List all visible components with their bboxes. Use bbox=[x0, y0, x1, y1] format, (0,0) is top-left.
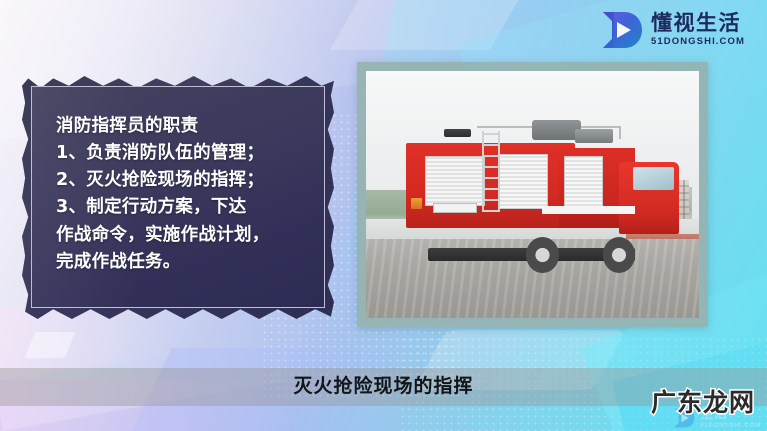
site-watermark: 广东龙网 bbox=[651, 383, 755, 419]
panel-line-2: 2、灭火抢险现场的指挥； bbox=[56, 167, 306, 194]
dongshi-d-play-icon bbox=[600, 9, 644, 51]
ghost-watermark-en: 51DONGSHI.COM bbox=[700, 423, 761, 429]
truck-roller-shutter bbox=[499, 154, 548, 209]
slide-canvas: 懂视生活 51DONGSHI.COM 消防指挥员的职责 1、负责消防队伍的管理；… bbox=[0, 0, 767, 431]
truck-wheel bbox=[603, 237, 636, 273]
fire-truck bbox=[406, 120, 679, 258]
panel-line-1: 1、负责消防队伍的管理； bbox=[56, 140, 306, 167]
truck-roof-equipment bbox=[532, 120, 581, 139]
info-panel: 消防指挥员的职责 1、负责消防队伍的管理； 2、灭火抢险现场的指挥； 3、制定行… bbox=[22, 76, 334, 319]
panel-line-5: 完成作战任务。 bbox=[56, 249, 306, 276]
truck-side-stripe bbox=[542, 206, 635, 214]
panel-line-3: 3、制定行动方案，下达 bbox=[56, 194, 306, 221]
brand-logo-text: 懂视生活 51DONGSHI.COM bbox=[651, 13, 745, 47]
truck-light-bar bbox=[444, 129, 471, 137]
truck-wheel bbox=[526, 237, 559, 273]
info-panel-inner: 消防指挥员的职责 1、负责消防队伍的管理； 2、灭火抢险现场的指挥； 3、制定行… bbox=[31, 86, 325, 308]
truck-rear-plate bbox=[433, 203, 477, 213]
truck-ladder bbox=[482, 131, 500, 211]
photo-frame bbox=[357, 62, 708, 327]
truck-tail-light bbox=[411, 198, 422, 209]
fire-truck-photo bbox=[366, 71, 699, 318]
brand-logo[interactable]: 懂视生活 51DONGSHI.COM bbox=[600, 6, 762, 54]
panel-line-4: 作战命令，实施作战计划， bbox=[56, 222, 306, 249]
truck-roller-shutter bbox=[564, 156, 602, 209]
truck-roof-equipment bbox=[575, 129, 613, 143]
info-panel-text: 消防指挥员的职责 1、负责消防队伍的管理； 2、灭火抢险现场的指挥； 3、制定行… bbox=[32, 87, 324, 276]
truck-cab-window bbox=[633, 167, 674, 189]
brand-name-en: 51DONGSHI.COM bbox=[651, 37, 745, 47]
panel-line-title: 消防指挥员的职责 bbox=[56, 113, 306, 140]
brand-name-cn: 懂视生活 bbox=[651, 13, 745, 34]
truck-roller-shutter bbox=[425, 156, 485, 206]
